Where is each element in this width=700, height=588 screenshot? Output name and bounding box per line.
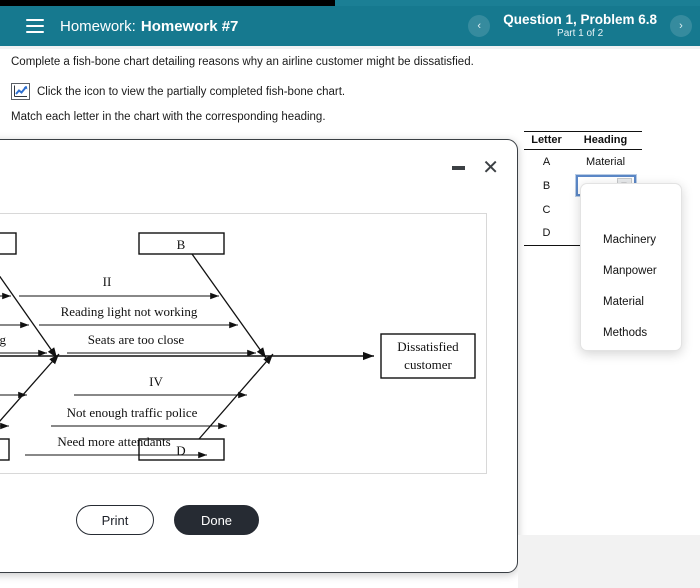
svg-text:Seats are too close: Seats are too close <box>88 332 185 347</box>
svg-text:D: D <box>176 443 185 458</box>
row-letter: A <box>524 150 569 174</box>
homework-title: Homework #7 <box>141 18 239 35</box>
print-button[interactable]: Print <box>76 505 154 535</box>
row-letter: D <box>524 222 569 246</box>
row-letter: B <box>524 174 569 198</box>
row-heading-value: Material <box>569 150 642 174</box>
app-header: Homework: Homework #7 ‹ Question 1, Prob… <box>0 6 700 46</box>
svg-text:Reading light not working: Reading light not working <box>61 304 198 319</box>
svg-text:Not enough parking: Not enough parking <box>0 332 6 347</box>
row-letter: C <box>524 198 569 222</box>
chevron-right-icon[interactable]: › <box>670 15 692 37</box>
homework-label: Homework: <box>60 18 136 35</box>
problem-line-2-row: Click the icon to view the partially com… <box>11 83 345 100</box>
svg-text:IV: IV <box>149 374 163 389</box>
minimize-icon[interactable] <box>452 166 465 170</box>
dropdown-option-manpower[interactable]: Manpower <box>581 256 681 287</box>
problem-line-2: Click the icon to view the partially com… <box>37 86 345 98</box>
col-header-letter: Letter <box>524 132 569 150</box>
table-row: A Material <box>524 150 642 174</box>
dropdown-option-material[interactable]: Material <box>581 287 681 318</box>
svg-text:Need more attendants: Need more attendants <box>57 434 170 449</box>
dropdown-option-machinery[interactable]: Machinery <box>581 225 681 256</box>
modal-button-row: Print Done <box>0 505 518 535</box>
chevron-left-icon[interactable]: ‹ <box>468 15 490 37</box>
svg-text:Dissatisfied: Dissatisfied <box>397 339 459 354</box>
col-header-heading: Heading <box>569 132 642 150</box>
svg-text:customer: customer <box>404 357 452 372</box>
question-part: Part 1 of 2 <box>503 27 657 40</box>
svg-text:II: II <box>103 274 112 289</box>
done-button[interactable]: Done <box>174 505 259 535</box>
heading-dropdown-menu[interactable]: Machinery Manpower Material Methods <box>580 183 682 351</box>
problem-line-1: Complete a fish-bone chart detailing rea… <box>11 56 474 68</box>
header-divider <box>0 46 700 49</box>
svg-text:Not enough traffic police: Not enough traffic police <box>67 405 198 420</box>
graph-chart-modal: raph/chart ✕ Dissatisfied customer A I <box>0 139 518 573</box>
close-icon[interactable]: ✕ <box>482 160 499 176</box>
question-title: Question 1, Problem 6.8 <box>503 12 657 27</box>
line-chart-icon[interactable] <box>11 83 30 100</box>
table-header-row: Letter Heading <box>524 132 642 150</box>
hamburger-icon[interactable] <box>26 19 44 33</box>
fishbone-diagram: Dissatisfied customer A I Tickets too ex… <box>0 214 486 473</box>
modal-window-controls: ✕ <box>452 160 499 176</box>
fishbone-chart-frame: Dissatisfied customer A I Tickets too ex… <box>0 213 487 474</box>
question-indicator: Question 1, Problem 6.8 Part 1 of 2 <box>503 12 657 40</box>
bottom-gray-band <box>518 535 700 588</box>
header-nav: ‹ Question 1, Problem 6.8 Part 1 of 2 › <box>468 6 700 46</box>
problem-line-3: Match each letter in the chart with the … <box>11 111 326 123</box>
svg-text:B: B <box>177 237 186 252</box>
dropdown-option-methods[interactable]: Methods <box>581 318 681 349</box>
